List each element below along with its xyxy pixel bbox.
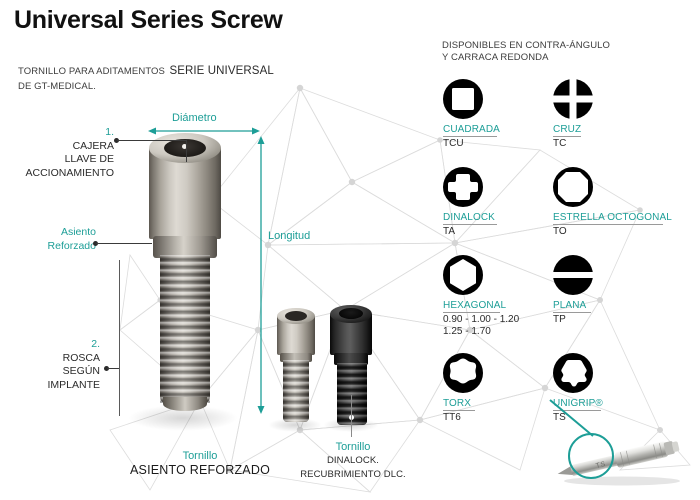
diameter-arrow — [148, 126, 260, 136]
drive-rule-plana — [553, 312, 591, 313]
thread-bracket-line — [119, 260, 120, 416]
drive-rule-hexagonal — [443, 312, 500, 313]
drive-code-plana: TP — [553, 314, 566, 326]
intro-highlight: SERIE UNIVERSAL — [169, 65, 273, 77]
drives-header-line-2: Y CARRACA REDONDA — [442, 52, 610, 64]
dark-screw-socket — [339, 308, 363, 319]
drive-code-dinalock: TA — [443, 226, 455, 238]
intro-text-block: TORNILLO PARA ADITAMENTOS SERIE UNIVERSA… — [18, 63, 288, 93]
main-screw-image — [140, 133, 230, 418]
dark-screw-caption-line-3: RECUBRIMIENTO DLC. — [300, 469, 406, 480]
drive-rule-cuadrada — [443, 136, 497, 137]
callout-1-text: 1. CAJERA LLAVE DE ACCIONAMIENTO — [8, 126, 114, 180]
callout-2-number: 2. — [91, 338, 100, 350]
drive-rule-torx — [443, 410, 475, 411]
main-screw-thread — [160, 255, 210, 403]
drive-rule-dinalock — [443, 224, 497, 225]
drive-rule-estrella-octogonal — [553, 224, 663, 225]
callout-1-leader-v — [186, 140, 187, 162]
small-metal-screw-image — [272, 308, 320, 428]
length-label: Longitud — [268, 230, 310, 242]
dinalock-drive-icon — [442, 166, 484, 208]
hexagonal-drive-icon — [442, 254, 484, 296]
dark-screw-caption: Tornillo DINALOCK. RECUBRIMIENTO DLC. — [288, 440, 418, 481]
drives-header: DISPONIBLES EN CONTRA-ÁNGULO Y CARRACA R… — [442, 40, 610, 64]
small-screw-thread — [283, 360, 309, 422]
drive-name-plana: PLANA — [553, 300, 586, 311]
drive-name-hexagonal: HEXAGONAL — [443, 300, 506, 311]
drive-name-dinalock: DINALOCK — [443, 212, 495, 223]
seat-callout-text: Asiento Reforzado — [8, 226, 96, 253]
drive-code-torx: TT6 — [443, 412, 461, 424]
seat-callout-line-1: Asiento — [61, 226, 96, 238]
square-drive-icon — [442, 78, 484, 120]
main-screw-caption: Tornillo ASIENTO REFORZADO — [100, 448, 300, 477]
intro-line-1: TORNILLO PARA ADITAMENTOS — [18, 66, 165, 77]
drive-code-cruz: TC — [553, 138, 566, 150]
callout-1-line-2: LLAVE DE — [65, 153, 114, 165]
seat-callout-leader — [96, 243, 152, 244]
dark-screw-caption-leader — [351, 395, 352, 437]
diameter-label: Diámetro — [172, 112, 217, 124]
drive-name-cruz: CRUZ — [553, 124, 581, 135]
dark-screw-caption-line-1: Tornillo — [336, 441, 371, 453]
small-screw-socket — [285, 311, 307, 321]
callout-2-text: 2. ROSCA SEGÚN IMPLANTE — [8, 338, 100, 392]
callout-1-number: 1. — [105, 126, 114, 138]
flat-drive-icon — [552, 254, 594, 296]
drives-header-line-1: DISPONIBLES EN CONTRA-ÁNGULO — [442, 40, 610, 52]
infographic-page: Universal Series Screw TORNILLO PARA ADI… — [0, 0, 700, 500]
callout-2-line-2: SEGÚN — [63, 365, 100, 377]
callout-1-line-1: CAJERA — [73, 140, 114, 152]
drive-rule-cruz — [553, 136, 581, 137]
callout-2-line-3: IMPLANTE — [47, 379, 100, 391]
intro-line-2: DE GT-MEDICAL. — [18, 81, 96, 92]
callout-2-line-1: ROSCA — [63, 352, 100, 364]
unigrip-tool-leader — [548, 398, 608, 440]
seat-callout-line-2: Reforzado — [48, 240, 96, 252]
drive-code-cuadrada: TCU — [443, 138, 464, 150]
callout-2-leader — [107, 368, 119, 369]
page-title: Universal Series Screw — [14, 6, 283, 35]
octagonal-drive-icon — [552, 166, 594, 208]
main-screw-tip — [163, 397, 207, 411]
cross-drive-icon — [552, 78, 594, 120]
dark-dlc-screw-image — [326, 305, 378, 430]
torx-drive-icon — [442, 352, 484, 394]
drive-name-torx: TORX — [443, 398, 471, 409]
callout-1-line-3: ACCIONAMIENTO — [26, 167, 114, 179]
length-arrow — [256, 136, 266, 414]
drive-name-estrella-octogonal: ESTRELLA OCTOGONAL — [553, 212, 672, 223]
main-screw-caption-line-2: ASIENTO REFORZADO — [130, 463, 270, 477]
unigrip-drive-icon — [552, 352, 594, 394]
drive-code-estrella-octogonal: TO — [553, 226, 567, 238]
dark-screw-caption-line-2: DINALOCK. — [327, 455, 379, 466]
main-screw-caption-line-1: Tornillo — [183, 450, 218, 462]
drive-name-cuadrada: CUADRADA — [443, 124, 500, 135]
callout-1-leader-h — [117, 140, 186, 141]
drive-code-hexagonal: 0.90 - 1.00 - 1.20 1.25 - 1.70 — [443, 314, 519, 337]
